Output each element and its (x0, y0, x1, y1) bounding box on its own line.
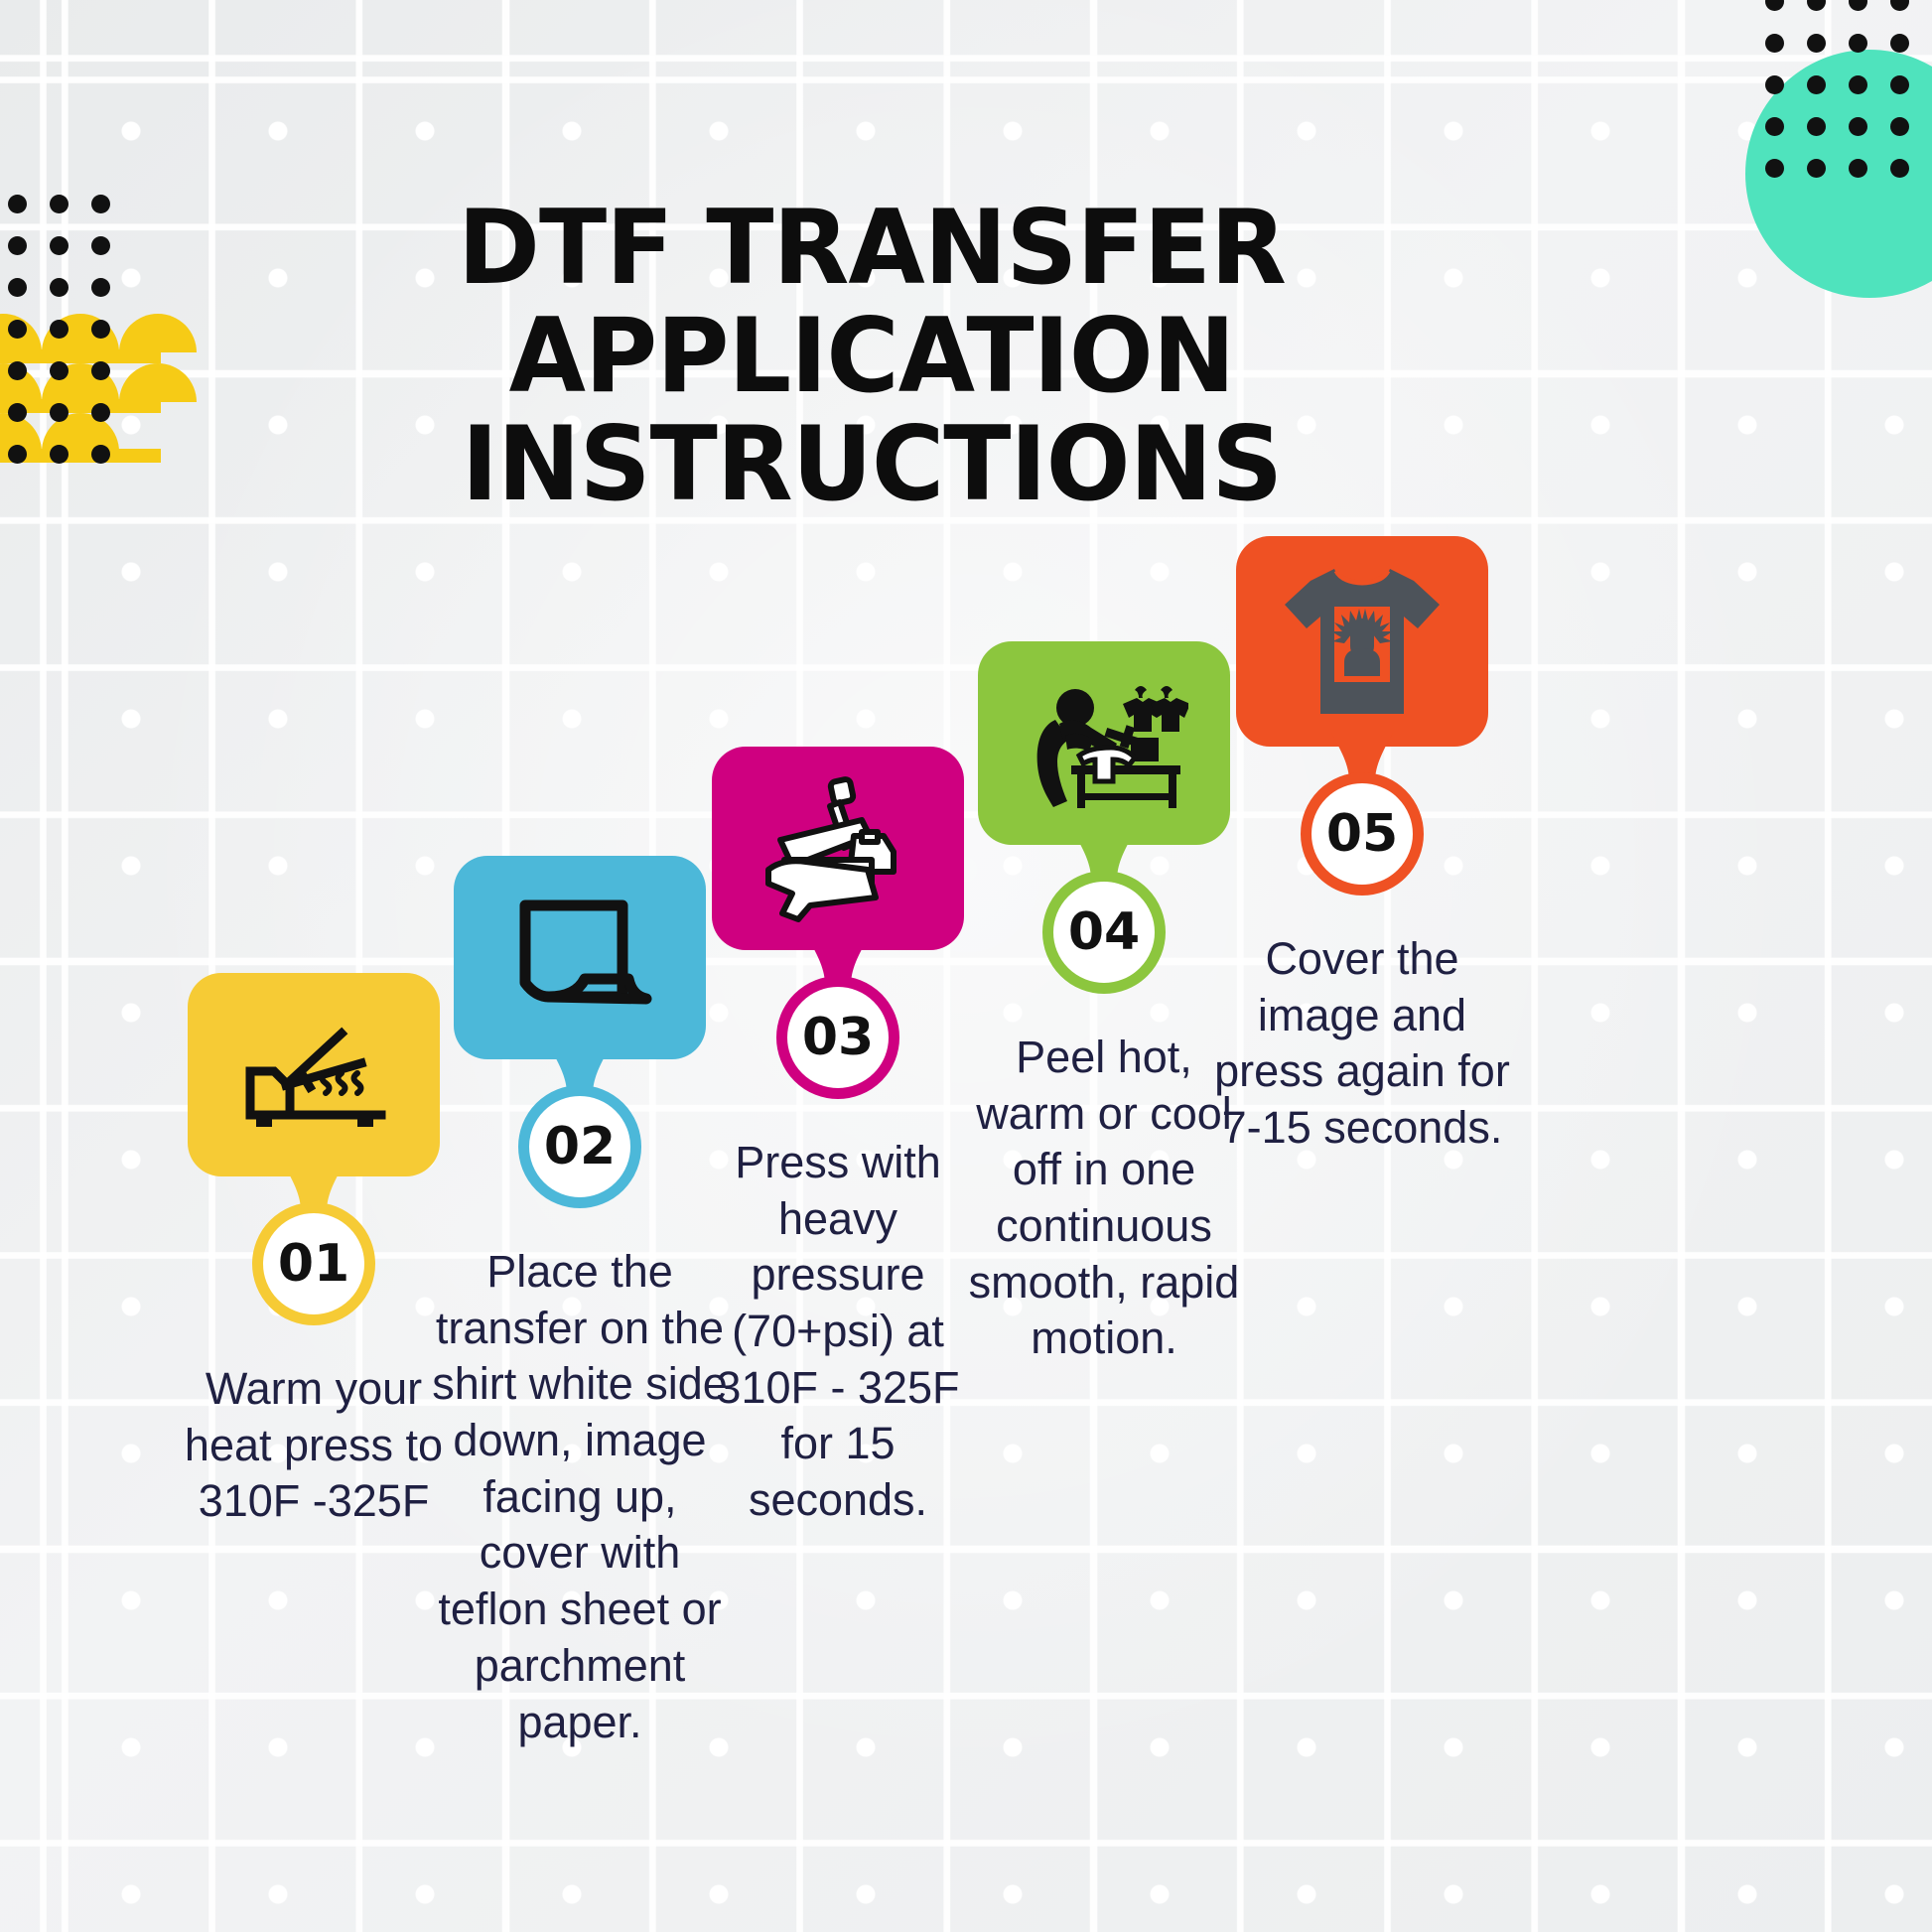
decor-dot (8, 236, 27, 255)
decor-dot (1890, 117, 1909, 136)
decor-dot (91, 278, 110, 297)
step-03[interactable]: 03 Press with heavy pressure (70+psi) at… (683, 747, 993, 1529)
decor-dot (1849, 117, 1867, 136)
step-03-caption: Press with heavy pressure (70+psi) at 31… (689, 1135, 987, 1529)
decor-dot (50, 195, 69, 213)
decor-dot (8, 403, 27, 422)
step-05-number: 05 (1326, 804, 1398, 864)
decor-dot (91, 445, 110, 464)
step-04-icon-card[interactable] (978, 641, 1230, 845)
step-03-number-badge: 03 (776, 976, 899, 1099)
step-04-number-badge: 04 (1042, 871, 1166, 994)
decor-dot (1849, 159, 1867, 178)
step-05-caption: Cover the image and press again for 7-15… (1213, 931, 1511, 1157)
heat-press-machine-icon (759, 774, 917, 923)
decor-dot (91, 320, 110, 339)
infographic-canvas: DTF TRANSFER APPLICATION INSTRUCTIONS (0, 0, 1932, 1932)
step-01[interactable]: 01 Warm your heat press to 310F -325F (159, 973, 469, 1530)
step-03-number: 03 (802, 1008, 874, 1067)
decor-dot (1890, 34, 1909, 53)
printed-tshirt-icon (1273, 559, 1451, 724)
step-01-caption: Warm your heat press to 310F -325F (165, 1361, 463, 1530)
decor-dot (91, 361, 110, 380)
decor-dot (8, 278, 27, 297)
decor-dot (50, 361, 69, 380)
decor-dot (8, 361, 27, 380)
decor-dot (1849, 34, 1867, 53)
step-02-number-badge: 02 (518, 1085, 641, 1208)
decor-dot (8, 320, 27, 339)
decor-dot (50, 278, 69, 297)
decor-dot (1849, 75, 1867, 94)
decor-dot (1890, 159, 1909, 178)
decor-dot (91, 236, 110, 255)
step-03-icon-card[interactable] (712, 747, 964, 950)
step-04-number: 04 (1068, 902, 1140, 962)
decor-dot (50, 445, 69, 464)
step-02-icon-card[interactable] (454, 856, 706, 1059)
decor-dot (91, 195, 110, 213)
step-05[interactable]: 05 Cover the image and press again for 7… (1207, 536, 1517, 1157)
decor-dot (50, 320, 69, 339)
decor-dot (1890, 75, 1909, 94)
decor-dot (50, 403, 69, 422)
person-pressing-shirt-icon (1020, 674, 1188, 813)
step-01-number: 01 (278, 1234, 349, 1294)
heat-press-open-icon (234, 1016, 393, 1135)
transfer-sheet-icon (505, 894, 654, 1023)
step-01-number-badge: 01 (252, 1202, 375, 1325)
steps-container: 01 Warm your heat press to 310F -325F 02 (119, 0, 1827, 1932)
decor-dot (50, 236, 69, 255)
step-05-icon-card[interactable] (1236, 536, 1488, 747)
step-02-number: 02 (544, 1117, 616, 1176)
step-05-number-badge: 05 (1301, 772, 1424, 896)
decor-dot (8, 445, 27, 464)
decor-dot (91, 403, 110, 422)
step-01-icon-card[interactable] (188, 973, 440, 1176)
decor-dot (8, 195, 27, 213)
